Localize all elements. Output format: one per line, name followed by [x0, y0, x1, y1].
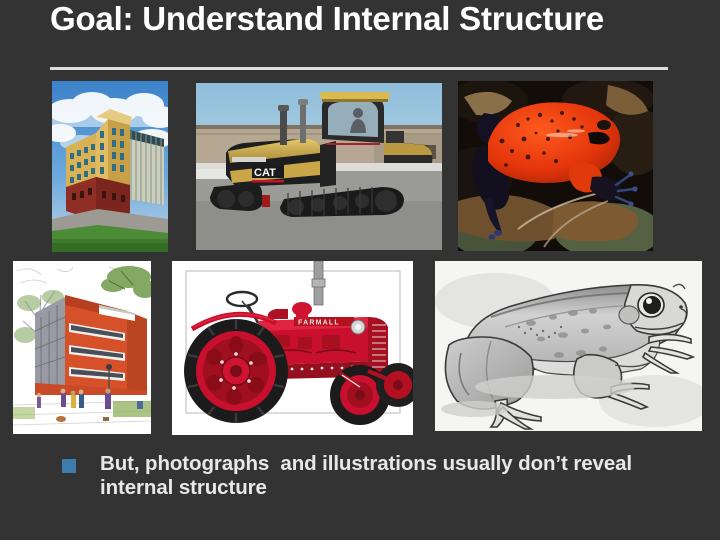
image-building-drawing	[13, 261, 151, 434]
frog-drawing-graphic	[435, 261, 702, 431]
farmall-drawing-graphic: FARMALL	[172, 261, 413, 435]
image-frog-drawing	[435, 261, 702, 431]
title-block: Goal: Understand Internal Structure	[50, 2, 690, 37]
cat-tractor-graphic: CAT	[196, 83, 442, 250]
bullet-row: But, photographs and illustrations usual…	[62, 452, 682, 500]
image-building-photo	[52, 81, 168, 252]
poison-frog-graphic	[458, 81, 653, 251]
svg-text:CAT: CAT	[254, 167, 276, 179]
image-poison-frog	[458, 81, 653, 251]
bullet-text: But, photographs and illustrations usual…	[100, 452, 682, 500]
building-drawing-graphic	[13, 261, 151, 434]
svg-text:FARMALL: FARMALL	[298, 320, 340, 327]
image-farmall-drawing: FARMALL	[172, 261, 413, 435]
image-cat-tractor: CAT	[196, 83, 442, 250]
page-title: Goal: Understand Internal Structure	[50, 2, 690, 37]
square-bullet-icon	[62, 459, 76, 473]
title-underline-rule	[50, 67, 668, 70]
building-photo-graphic	[52, 81, 168, 252]
slide-canvas: Goal: Understand Internal Structure	[0, 0, 720, 540]
